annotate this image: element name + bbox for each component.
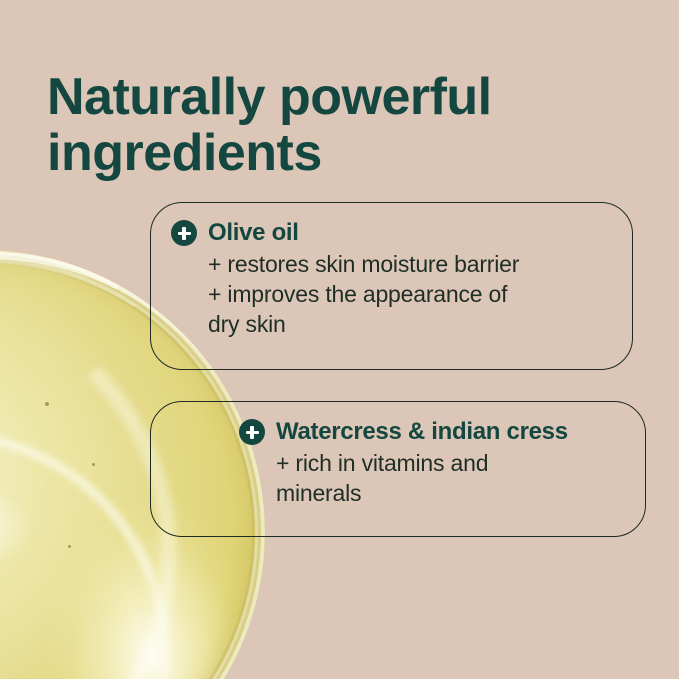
ingredient-benefit: + improves the appearance of xyxy=(208,280,632,310)
plus-badge-icon xyxy=(239,419,265,445)
ingredient-name: Watercress & indian cress xyxy=(276,418,568,446)
ingredient-title-row: Watercress & indian cress xyxy=(151,418,645,446)
ingredient-benefit: + restores skin moisture barrier xyxy=(208,250,632,280)
ingredient-benefit-list: + restores skin moisture barrier + impro… xyxy=(151,250,632,340)
ingredient-benefit: dry skin xyxy=(208,310,632,340)
ingredient-card-olive-oil: Olive oil + restores skin moisture barri… xyxy=(150,202,633,370)
product-ingredients-graphic: Naturally powerful ingredients Olive oil… xyxy=(0,0,679,679)
ingredient-benefit: + rich in vitamins and xyxy=(276,449,645,479)
oil-specular-highlight xyxy=(0,480,35,575)
oil-speck xyxy=(92,463,95,466)
ingredient-card-content: Olive oil + restores skin moisture barri… xyxy=(151,203,632,340)
ingredient-title-row: Olive oil xyxy=(151,219,632,247)
ingredient-name: Olive oil xyxy=(208,219,299,247)
oil-speck xyxy=(68,545,71,548)
oil-speck xyxy=(45,402,49,406)
ingredient-benefit: minerals xyxy=(276,479,645,509)
plus-badge-icon xyxy=(171,220,197,246)
page-title: Naturally powerful ingredients xyxy=(47,69,637,181)
ingredient-card-watercress: Watercress & indian cress + rich in vita… xyxy=(150,401,646,537)
ingredient-benefit-list: + rich in vitamins and minerals xyxy=(151,449,645,509)
ingredient-card-content: Watercress & indian cress + rich in vita… xyxy=(151,402,645,509)
